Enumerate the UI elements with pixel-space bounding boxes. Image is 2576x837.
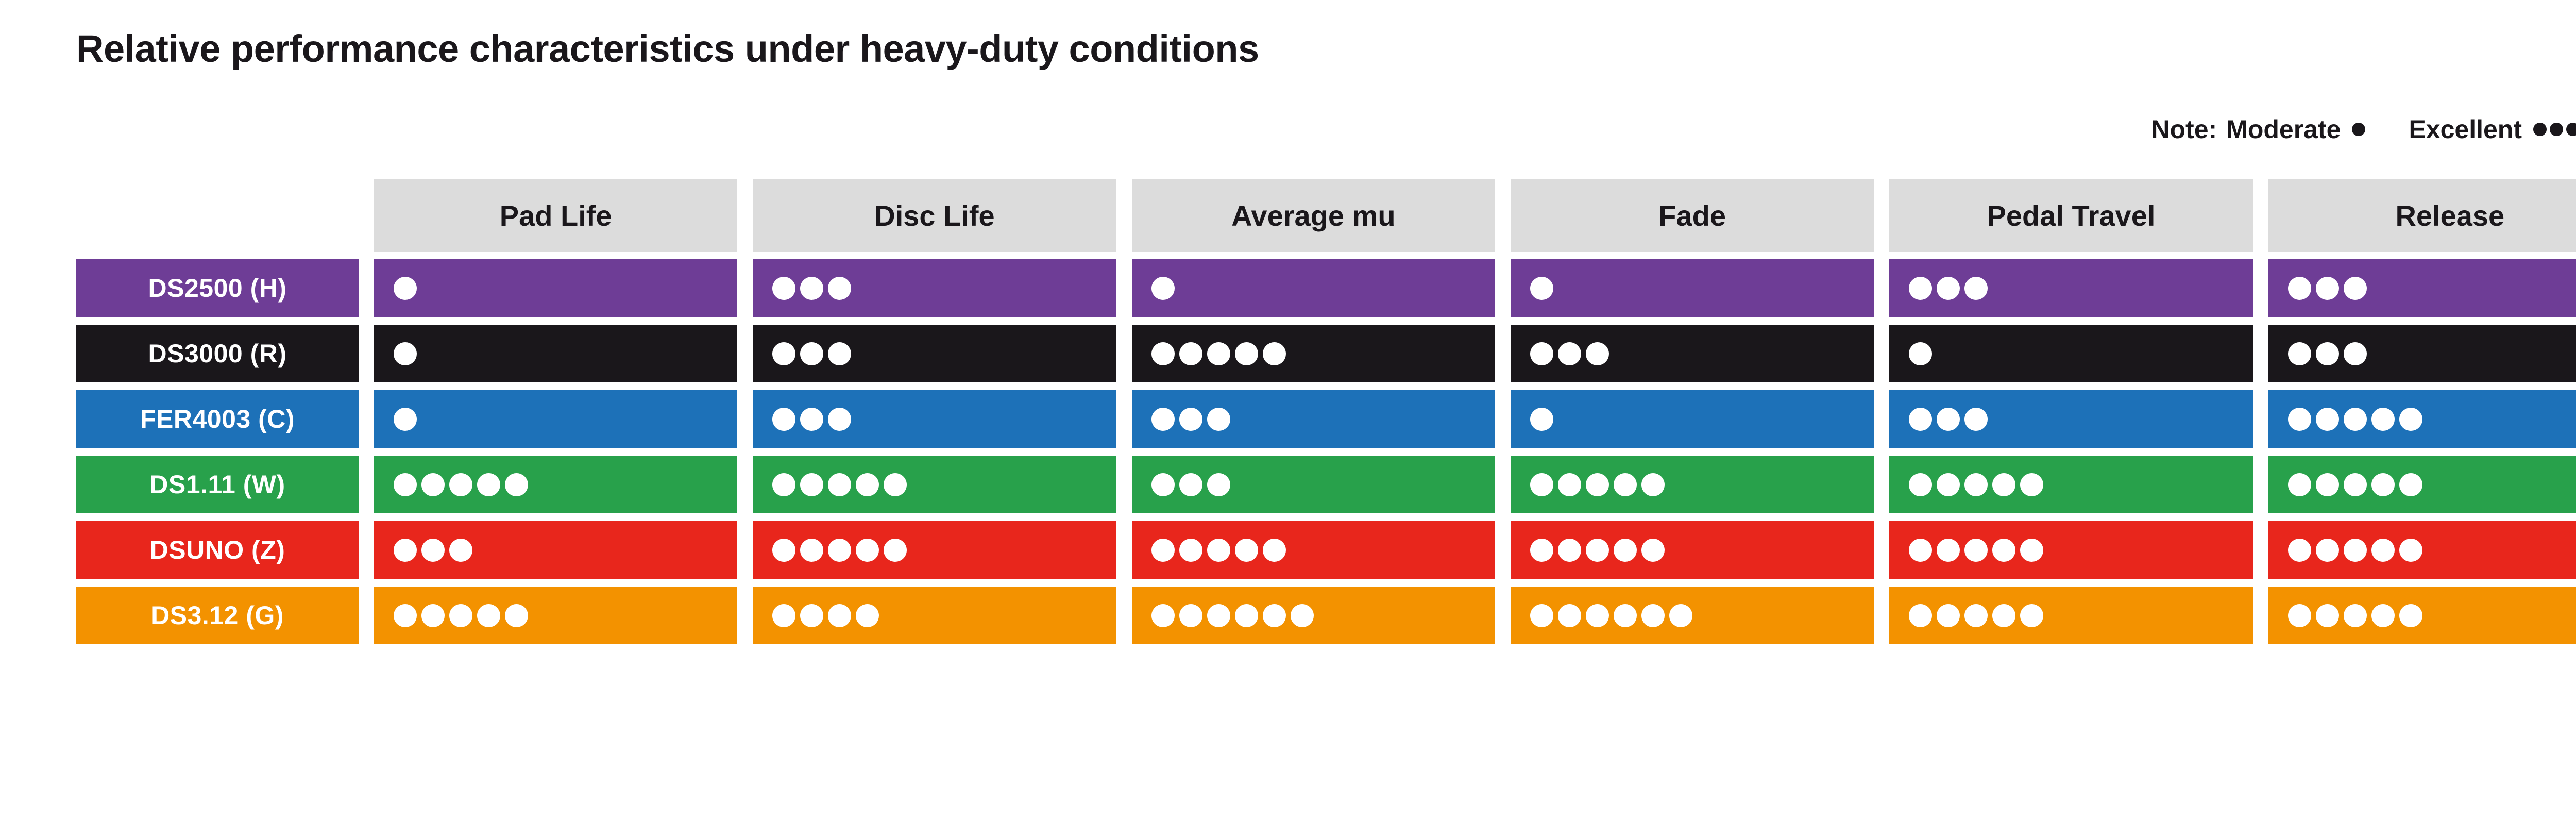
rating-dot-icon	[800, 473, 823, 496]
rating-dot-icon	[1207, 473, 1230, 496]
rating-dot-icon	[2288, 342, 2311, 365]
rating-dot-icon	[2020, 539, 2043, 562]
rating-dots	[1530, 277, 1553, 300]
row-cells	[374, 456, 2576, 513]
rating-dots	[394, 604, 528, 627]
rating-cell[interactable]	[1132, 390, 1495, 448]
rating-dot-icon	[828, 408, 851, 431]
rating-cell[interactable]	[2268, 390, 2576, 448]
rating-dot-icon	[2399, 473, 2422, 496]
rating-cell[interactable]	[2268, 587, 2576, 644]
rating-dot-icon	[1909, 604, 1932, 627]
column-header-label: Fade	[1658, 199, 1726, 232]
rating-cell[interactable]	[1889, 325, 2252, 382]
rating-dot-icon	[1937, 473, 1960, 496]
rating-dot-icon	[1964, 408, 1988, 431]
rating-dot-icon	[1235, 342, 1258, 365]
rating-dots	[772, 277, 851, 300]
row-label-text: DS2500 (H)	[148, 273, 287, 303]
rating-dot-icon	[1937, 604, 1960, 627]
rating-cell[interactable]	[1511, 325, 1874, 382]
rating-cell[interactable]	[1889, 456, 2252, 513]
rating-dot-icon	[1641, 604, 1665, 627]
rating-dot-icon	[800, 342, 823, 365]
rating-dots	[772, 408, 851, 431]
legend-moderate-label: Moderate	[2226, 114, 2341, 144]
rating-dot-icon	[1614, 473, 1637, 496]
header-cells: Pad LifeDisc LifeAverage muFadePedal Tra…	[374, 179, 2576, 252]
rating-dot-icon	[856, 473, 879, 496]
rating-dot-icon	[2371, 473, 2395, 496]
rating-dots	[1151, 604, 1314, 627]
rating-dots	[1909, 277, 1988, 300]
rating-dot-icon	[477, 473, 500, 496]
rating-dots	[1151, 473, 1230, 496]
rating-dot-icon	[2316, 408, 2339, 431]
column-spacer	[359, 587, 374, 644]
rating-dot-icon	[1937, 539, 1960, 562]
rating-dot-icon	[828, 539, 851, 562]
rating-dots	[2288, 539, 2422, 562]
rating-dot-icon	[2316, 539, 2339, 562]
rating-dot-icon	[828, 342, 851, 365]
rating-dots	[2288, 342, 2367, 365]
rating-dot-icon	[1207, 408, 1230, 431]
rating-dot-icon	[1992, 539, 2015, 562]
rating-dots	[2288, 408, 2422, 431]
row-cells	[374, 521, 2576, 579]
legend-excellent-dots	[2533, 123, 2576, 136]
rating-cell[interactable]	[753, 390, 1116, 448]
rating-dot-icon	[1558, 604, 1581, 627]
rating-dot-icon	[828, 604, 851, 627]
column-header-2[interactable]: Disc Life	[753, 179, 1116, 252]
rating-dot-icon	[2344, 277, 2367, 300]
rating-dots	[1530, 342, 1609, 365]
rating-dot-icon	[1235, 539, 1258, 562]
rating-dot-icon	[2288, 277, 2311, 300]
rating-dots	[1909, 539, 2043, 562]
rating-dot-icon	[2371, 539, 2395, 562]
rating-dots	[1151, 342, 1286, 365]
legend-note: Note: Moderate Excellent	[2151, 114, 2576, 144]
rating-dot-icon	[1614, 604, 1637, 627]
rating-dot-icon	[1909, 408, 1932, 431]
column-header-label: Disc Life	[874, 199, 994, 232]
rating-dot-icon	[1530, 408, 1553, 431]
rating-dot-icon	[1586, 604, 1609, 627]
rating-cell[interactable]	[374, 259, 737, 317]
rating-cell[interactable]	[1889, 259, 2252, 317]
rating-dots	[2288, 604, 2422, 627]
column-header-5[interactable]: Pedal Travel	[1889, 179, 2252, 252]
column-spacer	[359, 521, 374, 579]
rating-dot-icon	[2344, 604, 2367, 627]
rating-dot-icon	[1937, 408, 1960, 431]
rating-dot-icon	[856, 604, 879, 627]
rating-dot-icon	[1235, 604, 1258, 627]
column-header-label: Average mu	[1231, 199, 1396, 232]
rating-dot-icon	[1151, 604, 1175, 627]
rating-dot-icon	[884, 539, 907, 562]
rating-dot-icon	[1530, 277, 1553, 300]
rating-dot-icon	[477, 604, 500, 627]
note-prefix: Note:	[2151, 114, 2217, 144]
rating-dot-icon	[1641, 473, 1665, 496]
rating-dot-icon	[1964, 277, 1988, 300]
rating-dot-icon	[1641, 539, 1665, 562]
rating-dot-icon	[1151, 277, 1175, 300]
rating-dots	[772, 539, 907, 562]
rating-dot-icon	[1151, 342, 1175, 365]
legend-dot-icon	[2550, 123, 2563, 136]
rating-cell[interactable]	[374, 456, 737, 513]
rating-dots	[2288, 277, 2367, 300]
table-header-row: Pad LifeDisc LifeAverage muFadePedal Tra…	[76, 179, 2576, 252]
rating-dot-icon	[1530, 604, 1553, 627]
rating-dot-icon	[1586, 342, 1609, 365]
rating-dot-icon	[772, 342, 795, 365]
rating-cell[interactable]	[1511, 390, 1874, 448]
rating-dot-icon	[1909, 342, 1932, 365]
rating-dot-icon	[2399, 539, 2422, 562]
column-header-6[interactable]: Release	[2268, 179, 2576, 252]
rating-dot-icon	[2371, 604, 2395, 627]
row-label-5[interactable]: DSUNO (Z)	[76, 521, 359, 579]
rating-cell[interactable]	[1511, 456, 1874, 513]
rating-dot-icon	[1964, 539, 1988, 562]
rating-dots	[772, 473, 907, 496]
rating-cell[interactable]	[2268, 325, 2576, 382]
legend-moderate-dots	[2352, 123, 2365, 136]
rating-dots	[1151, 277, 1175, 300]
row-cells	[374, 259, 2576, 317]
rating-dot-icon	[1151, 473, 1175, 496]
rating-dots	[394, 277, 417, 300]
column-spacer	[359, 259, 374, 317]
rating-cell[interactable]	[2268, 521, 2576, 579]
rating-dot-icon	[2288, 604, 2311, 627]
rating-dot-icon	[2344, 342, 2367, 365]
rating-dot-icon	[2399, 408, 2422, 431]
column-spacer	[359, 456, 374, 513]
table-row: FER4003 (C)	[76, 390, 2576, 448]
rating-dot-icon	[1207, 604, 1230, 627]
rating-cell[interactable]	[1132, 521, 1495, 579]
rating-dots	[1530, 408, 1553, 431]
rating-dot-icon	[2288, 473, 2311, 496]
rating-dot-icon	[505, 604, 528, 627]
rating-cell[interactable]	[2268, 259, 2576, 317]
rating-dot-icon	[856, 539, 879, 562]
rating-dots	[1909, 604, 2043, 627]
legend-excellent-label: Excellent	[2409, 114, 2522, 144]
table-row: DS3.12 (G)	[76, 587, 2576, 644]
rating-dot-icon	[2344, 473, 2367, 496]
rating-dot-icon	[2344, 539, 2367, 562]
rating-dot-icon	[772, 277, 795, 300]
rating-dots	[772, 342, 851, 365]
rating-dot-icon	[394, 539, 417, 562]
rating-dots	[1909, 473, 2043, 496]
rating-dot-icon	[1151, 539, 1175, 562]
row-label-6[interactable]: DS3.12 (G)	[76, 587, 359, 644]
rating-dot-icon	[1964, 473, 1988, 496]
rating-dot-icon	[2288, 539, 2311, 562]
rating-dot-icon	[1909, 277, 1932, 300]
header-corner-cell	[76, 179, 359, 252]
rating-dot-icon	[1179, 342, 1202, 365]
table-row: DS3000 (R)	[76, 325, 2576, 382]
rating-dot-icon	[1937, 277, 1960, 300]
rating-dot-icon	[1992, 604, 2015, 627]
row-label-3[interactable]: FER4003 (C)	[76, 390, 359, 448]
rating-dot-icon	[1179, 408, 1202, 431]
rating-dot-icon	[505, 473, 528, 496]
rating-dot-icon	[772, 408, 795, 431]
rating-cell[interactable]	[1511, 521, 1874, 579]
rating-dot-icon	[2344, 408, 2367, 431]
rating-dot-icon	[2399, 604, 2422, 627]
column-header-3[interactable]: Average mu	[1132, 179, 1495, 252]
row-cells	[374, 587, 2576, 644]
performance-table: Pad LifeDisc LifeAverage muFadePedal Tra…	[76, 179, 2576, 652]
rating-cell[interactable]	[374, 390, 737, 448]
rating-dot-icon	[421, 473, 445, 496]
rating-dot-icon	[1207, 539, 1230, 562]
row-label-text: DS1.11 (W)	[149, 470, 285, 499]
rating-dot-icon	[394, 473, 417, 496]
rating-dot-icon	[1263, 604, 1286, 627]
rating-dot-icon	[449, 473, 472, 496]
rating-dots	[1909, 408, 1988, 431]
rating-cell[interactable]	[374, 325, 737, 382]
row-label-text: DSUNO (Z)	[150, 535, 285, 565]
legend-dot-icon	[2352, 123, 2365, 136]
rating-cell[interactable]	[1132, 325, 1495, 382]
rating-cell[interactable]	[1889, 390, 2252, 448]
table-row: DSUNO (Z)	[76, 521, 2576, 579]
rating-dot-icon	[2371, 408, 2395, 431]
row-label-2[interactable]: DS3000 (R)	[76, 325, 359, 382]
rating-dot-icon	[2316, 277, 2339, 300]
rating-dots	[1530, 604, 1692, 627]
row-cells	[374, 325, 2576, 382]
rating-dot-icon	[772, 473, 795, 496]
rating-dot-icon	[1909, 539, 1932, 562]
rating-dot-icon	[2288, 408, 2311, 431]
rating-dots	[394, 539, 472, 562]
rating-dot-icon	[800, 277, 823, 300]
rating-cell[interactable]	[753, 521, 1116, 579]
rating-dot-icon	[1179, 604, 1202, 627]
rating-dot-icon	[2020, 604, 2043, 627]
column-header-1[interactable]: Pad Life	[374, 179, 737, 252]
rating-dot-icon	[1909, 473, 1932, 496]
row-cells	[374, 390, 2576, 448]
legend-dot-icon	[2566, 123, 2576, 136]
table-row: DS2500 (H)	[76, 259, 2576, 317]
rating-dots	[1909, 342, 1932, 365]
row-label-text: DS3.12 (G)	[151, 600, 284, 630]
row-label-text: DS3000 (R)	[148, 339, 287, 369]
page-title: Relative performance characteristics und…	[76, 27, 1259, 71]
rating-dot-icon	[1207, 342, 1230, 365]
rating-dots	[394, 408, 417, 431]
rating-dots	[772, 604, 879, 627]
rating-dot-icon	[1151, 408, 1175, 431]
rating-dot-icon	[1614, 539, 1637, 562]
rating-cell[interactable]	[1511, 587, 1874, 644]
performance-chart-page: Relative performance characteristics und…	[0, 0, 2576, 837]
rating-dot-icon	[800, 408, 823, 431]
rating-cell[interactable]	[753, 456, 1116, 513]
rating-dot-icon	[1992, 473, 2015, 496]
rating-dot-icon	[1586, 539, 1609, 562]
rating-dot-icon	[421, 604, 445, 627]
column-header-label: Release	[2395, 199, 2504, 232]
rating-dot-icon	[1179, 539, 1202, 562]
rating-dots	[1151, 539, 1286, 562]
row-label-1[interactable]: DS2500 (H)	[76, 259, 359, 317]
rating-dot-icon	[800, 539, 823, 562]
rating-dot-icon	[1964, 604, 1988, 627]
rating-dot-icon	[1530, 539, 1553, 562]
rating-dots	[1530, 473, 1665, 496]
rating-cell[interactable]	[1132, 259, 1495, 317]
column-header-4[interactable]: Fade	[1511, 179, 1874, 252]
rating-dot-icon	[1558, 473, 1581, 496]
column-spacer	[359, 390, 374, 448]
column-spacer	[359, 325, 374, 382]
rating-dots	[1151, 408, 1230, 431]
rating-dot-icon	[394, 342, 417, 365]
rating-dot-icon	[2316, 604, 2339, 627]
rating-dot-icon	[1530, 342, 1553, 365]
rating-cell[interactable]	[753, 325, 1116, 382]
rating-dot-icon	[394, 408, 417, 431]
rating-dot-icon	[1558, 539, 1581, 562]
rating-cell[interactable]	[1889, 587, 2252, 644]
rating-dot-icon	[828, 277, 851, 300]
rating-dot-icon	[1586, 473, 1609, 496]
rating-dot-icon	[772, 539, 795, 562]
rating-dot-icon	[1558, 342, 1581, 365]
rating-cell[interactable]	[1511, 259, 1874, 317]
column-spacer	[359, 179, 374, 252]
rating-dot-icon	[1530, 473, 1553, 496]
rating-dot-icon	[828, 473, 851, 496]
column-header-label: Pad Life	[500, 199, 612, 232]
rating-dot-icon	[1291, 604, 1314, 627]
rating-dot-icon	[1669, 604, 1692, 627]
rating-dots	[2288, 473, 2422, 496]
rating-cell[interactable]	[374, 521, 737, 579]
rating-cell[interactable]	[1889, 521, 2252, 579]
rating-dot-icon	[772, 604, 795, 627]
row-label-4[interactable]: DS1.11 (W)	[76, 456, 359, 513]
rating-dot-icon	[800, 604, 823, 627]
rating-cell[interactable]	[1132, 456, 1495, 513]
column-header-label: Pedal Travel	[1987, 199, 2156, 232]
rating-dots	[394, 342, 417, 365]
rating-cell[interactable]	[753, 259, 1116, 317]
rating-dot-icon	[1263, 539, 1286, 562]
rating-dot-icon	[2316, 342, 2339, 365]
rating-dot-icon	[449, 604, 472, 627]
rating-dots	[394, 473, 528, 496]
row-label-text: FER4003 (C)	[140, 404, 295, 434]
rating-dot-icon	[394, 277, 417, 300]
rating-dot-icon	[2316, 473, 2339, 496]
rating-dot-icon	[421, 539, 445, 562]
table-row: DS1.11 (W)	[76, 456, 2576, 513]
rating-dots	[1530, 539, 1665, 562]
rating-dot-icon	[1179, 473, 1202, 496]
rating-cell[interactable]	[1132, 587, 1495, 644]
rating-dot-icon	[1263, 342, 1286, 365]
rating-cell[interactable]	[753, 587, 1116, 644]
table-body: DS2500 (H)DS3000 (R)FER4003 (C)DS1.11 (W…	[76, 259, 2576, 644]
rating-cell[interactable]	[2268, 456, 2576, 513]
rating-cell[interactable]	[374, 587, 737, 644]
rating-dot-icon	[2020, 473, 2043, 496]
rating-dot-icon	[449, 539, 472, 562]
rating-dot-icon	[394, 604, 417, 627]
legend-dot-icon	[2533, 123, 2547, 136]
rating-dot-icon	[884, 473, 907, 496]
